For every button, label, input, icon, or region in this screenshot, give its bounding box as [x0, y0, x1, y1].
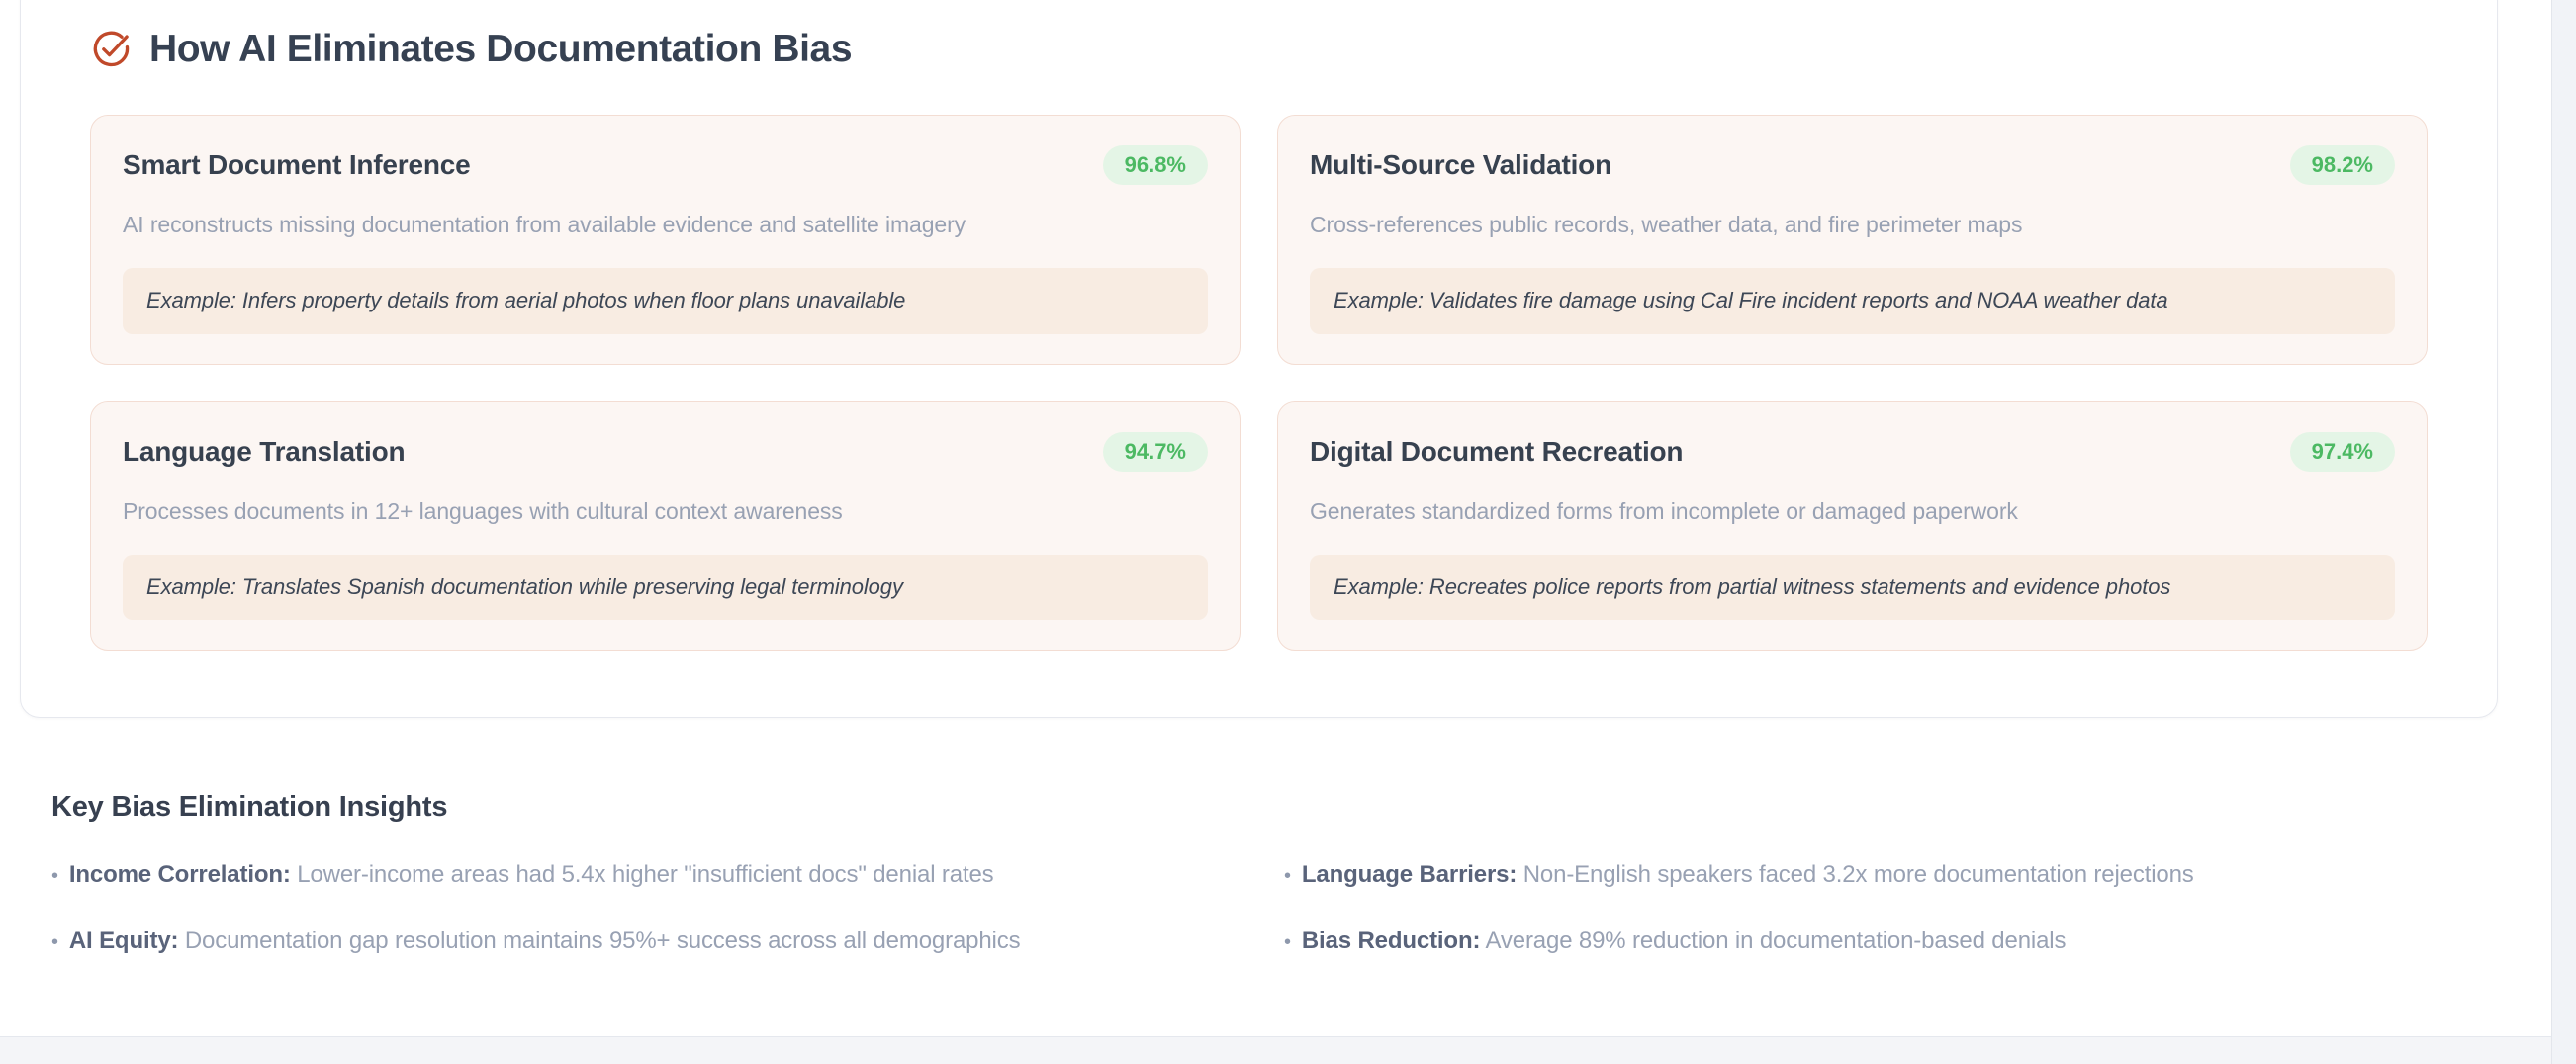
accuracy-badge: 94.7%: [1103, 432, 1208, 472]
feature-card-title: Multi-Source Validation: [1310, 148, 1611, 182]
bullet-icon: •: [1284, 932, 1291, 952]
feature-card-description: Processes documents in 12+ languages wit…: [123, 496, 1208, 527]
insight-text: Bias Reduction: Average 89% reduction in…: [1302, 926, 2066, 956]
feature-card-header: Smart Document Inference 96.8%: [123, 145, 1208, 185]
insight-label: Language Barriers:: [1302, 861, 1517, 888]
feature-card[interactable]: Language Translation 94.7% Processes doc…: [90, 401, 1241, 652]
page-scroll-rail[interactable]: [2551, 0, 2576, 1064]
insight-body: Average 89% reduction in documentation-b…: [1480, 928, 2066, 954]
feature-card[interactable]: Multi-Source Validation 98.2% Cross-refe…: [1277, 115, 2428, 365]
feature-card-example: Example: Recreates police reports from p…: [1310, 555, 2395, 621]
feature-card-header: Language Translation 94.7%: [123, 432, 1208, 472]
documentation-bias-panel: How AI Eliminates Documentation Bias Sma…: [20, 0, 2498, 718]
insight-label: AI Equity:: [69, 928, 179, 954]
insight-body: Non-English speakers faced 3.2x more doc…: [1517, 861, 2193, 888]
insight-item: • Bias Reduction: Average 89% reduction …: [1284, 926, 2465, 956]
bullet-icon: •: [1284, 866, 1291, 886]
panel-header: How AI Eliminates Documentation Bias: [68, 0, 2449, 70]
feature-card-title: Digital Document Recreation: [1310, 435, 1683, 469]
feature-card[interactable]: Digital Document Recreation 97.4% Genera…: [1277, 401, 2428, 652]
feature-card[interactable]: Smart Document Inference 96.8% AI recons…: [90, 115, 1241, 365]
feature-card-title: Smart Document Inference: [123, 148, 471, 182]
insights-title: Key Bias Elimination Insights: [51, 791, 2465, 824]
insight-label: Income Correlation:: [69, 861, 291, 888]
feature-card-grid: Smart Document Inference 96.8% AI recons…: [68, 115, 2449, 651]
insight-body: Documentation gap resolution maintains 9…: [178, 928, 1020, 954]
page-viewport: How AI Eliminates Documentation Bias Sma…: [0, 0, 2551, 1064]
key-insights-section: Key Bias Elimination Insights • Income C…: [51, 791, 2465, 956]
feature-card-example: Example: Infers property details from ae…: [123, 268, 1208, 334]
feature-card-example: Example: Translates Spanish documentatio…: [123, 555, 1208, 621]
insight-item: • Income Correlation: Lower-income areas…: [51, 859, 1233, 890]
feature-card-title: Language Translation: [123, 435, 405, 469]
insight-label: Bias Reduction:: [1302, 928, 1480, 954]
page-bottom-strip: [0, 1037, 2551, 1064]
feature-card-description: Generates standardized forms from incomp…: [1310, 496, 2395, 527]
accuracy-badge: 96.8%: [1103, 145, 1208, 185]
accuracy-badge: 98.2%: [2290, 145, 2395, 185]
feature-card-header: Multi-Source Validation 98.2%: [1310, 145, 2395, 185]
feature-card-description: AI reconstructs missing documentation fr…: [123, 210, 1208, 240]
feature-card-example: Example: Validates fire damage using Cal…: [1310, 268, 2395, 334]
insight-text: Income Correlation: Lower-income areas h…: [69, 859, 994, 890]
insights-grid: • Income Correlation: Lower-income areas…: [51, 859, 2465, 956]
accuracy-badge: 97.4%: [2290, 432, 2395, 472]
page-title: How AI Eliminates Documentation Bias: [149, 30, 852, 68]
insight-item: • Language Barriers: Non-English speaker…: [1284, 859, 2465, 890]
bullet-icon: •: [51, 866, 58, 886]
feature-card-header: Digital Document Recreation 97.4%: [1310, 432, 2395, 472]
circle-check-icon: [90, 29, 132, 70]
insight-text: Language Barriers: Non-English speakers …: [1302, 859, 2194, 890]
insight-item: • AI Equity: Documentation gap resolutio…: [51, 926, 1233, 956]
insight-body: Lower-income areas had 5.4x higher "insu…: [291, 861, 994, 888]
insight-text: AI Equity: Documentation gap resolution …: [69, 926, 1021, 956]
feature-card-description: Cross-references public records, weather…: [1310, 210, 2395, 240]
bullet-icon: •: [51, 932, 58, 952]
